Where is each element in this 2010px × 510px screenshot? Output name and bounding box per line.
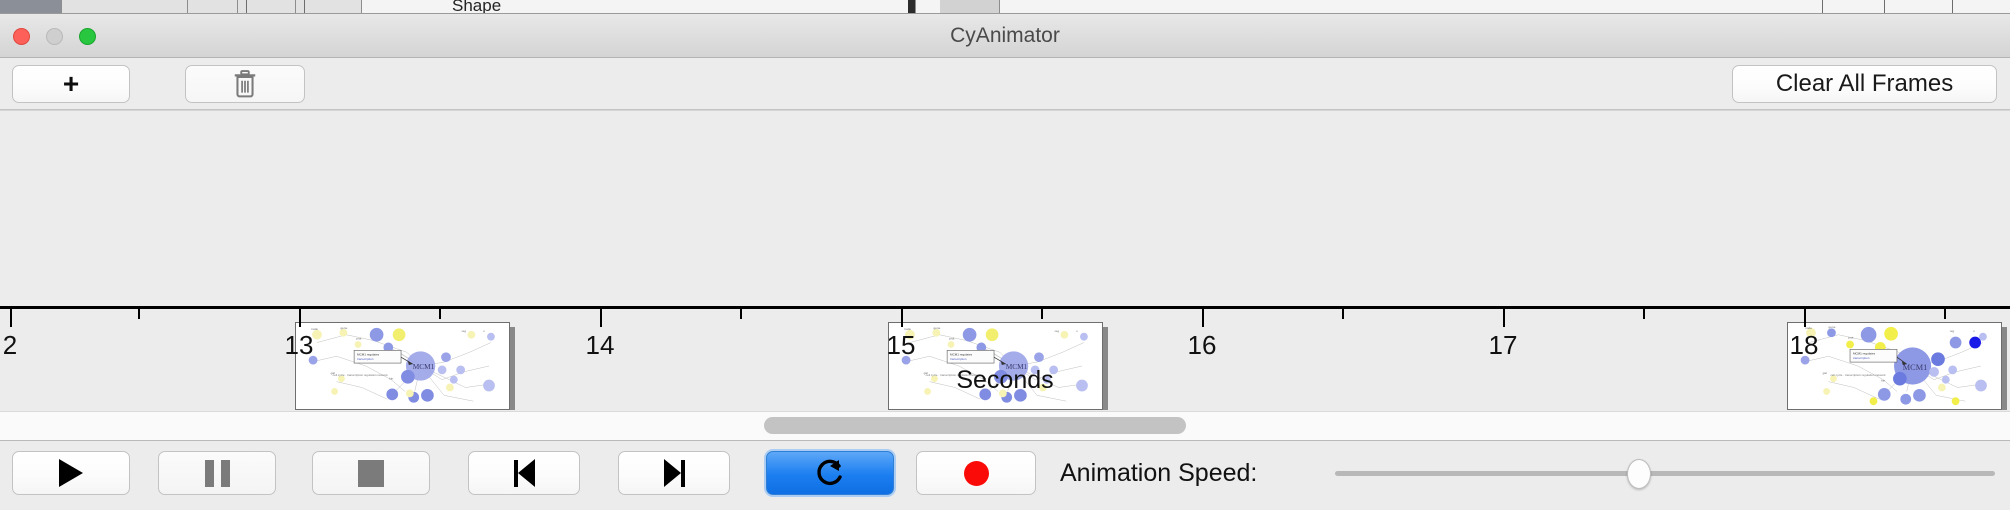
axis-tick-minor xyxy=(439,309,441,319)
slider-track xyxy=(1335,471,1995,476)
svg-text:MCM1 regulates: MCM1 regulates xyxy=(357,352,380,356)
play-icon xyxy=(59,459,83,487)
record-dot-icon xyxy=(964,461,989,486)
axis-tick-minor xyxy=(1643,309,1645,319)
axis-tick-label: 17 xyxy=(1489,330,1518,361)
background-window-strip: Shape xyxy=(0,0,2010,14)
bg-tick xyxy=(1952,0,1953,14)
bg-chip xyxy=(62,0,188,14)
stop-button[interactable] xyxy=(312,451,430,495)
bg-chip xyxy=(0,0,62,14)
background-window-label: Shape xyxy=(452,0,501,14)
playback-toolbar: Animation Speed: xyxy=(0,442,2010,510)
animation-speed-slider[interactable] xyxy=(1335,451,1995,495)
svg-text:gene: gene xyxy=(933,326,940,330)
bg-tick xyxy=(304,0,305,14)
delete-frame-button[interactable] xyxy=(185,65,305,103)
bg-tick xyxy=(246,0,247,14)
axis-tick-major xyxy=(1202,309,1204,327)
svg-text:transcription: transcription xyxy=(357,357,374,361)
animation-speed-label: Animation Speed: xyxy=(1060,451,1257,495)
play-button[interactable] xyxy=(12,451,130,495)
loop-icon xyxy=(814,457,846,489)
axis-tick-major xyxy=(600,309,602,327)
record-button[interactable] xyxy=(916,451,1036,495)
axis-tick-major xyxy=(1503,309,1505,327)
bg-chip xyxy=(940,0,1000,14)
axis-tick-minor xyxy=(1944,309,1946,319)
axis-tick-minor xyxy=(138,309,140,319)
slider-thumb[interactable] xyxy=(1627,459,1651,489)
svg-text:transcription: transcription xyxy=(1853,356,1870,360)
timeline-panel[interactable]: nodegene prottf regx kingal MCM1 regulat… xyxy=(0,110,2010,410)
previous-frame-button[interactable] xyxy=(468,451,580,495)
pause-button[interactable] xyxy=(158,451,276,495)
svg-text:prot: prot xyxy=(356,337,361,341)
bg-chip xyxy=(188,0,238,14)
svg-text:reg: reg xyxy=(1950,329,1955,333)
add-frame-button[interactable]: + xyxy=(12,65,130,103)
svg-text:transcription: transcription xyxy=(950,357,967,361)
bg-chip xyxy=(296,0,362,14)
pause-icon xyxy=(205,460,230,487)
svg-text:x: x xyxy=(483,329,485,333)
svg-text:gene: gene xyxy=(1829,325,1836,329)
axis-tick-label: 15 xyxy=(887,330,916,361)
svg-text:MCM1 regulates: MCM1 regulates xyxy=(1853,351,1876,355)
axis-tick-major xyxy=(1804,309,1806,327)
bg-tick xyxy=(1822,0,1823,14)
scrollbar-thumb[interactable] xyxy=(764,417,1186,434)
axis-tick-major xyxy=(299,309,301,327)
axis-tick-label: 2 xyxy=(3,330,17,361)
svg-text:gene: gene xyxy=(340,326,347,330)
axis-tick-major xyxy=(901,309,903,327)
svg-text:reg: reg xyxy=(1055,329,1060,333)
skip-back-icon xyxy=(514,459,535,487)
axis-tick-label: 13 xyxy=(285,330,314,361)
bg-tick xyxy=(1884,0,1885,14)
timeline-scrollbar[interactable] xyxy=(0,411,2010,441)
clear-all-frames-button[interactable]: Clear All Frames xyxy=(1732,65,1997,103)
axis-tick-minor xyxy=(740,309,742,319)
axis-tick-major xyxy=(10,309,12,327)
stop-icon xyxy=(358,460,384,487)
skip-forward-icon xyxy=(664,459,685,487)
toolbar: + Clear All Frames xyxy=(0,58,2010,110)
next-frame-button[interactable] xyxy=(618,451,730,495)
loop-button[interactable] xyxy=(766,451,894,495)
axis-tick-label: 18 xyxy=(1790,330,1819,361)
svg-text:prot: prot xyxy=(1848,336,1853,340)
svg-text:x: x xyxy=(1076,329,1078,333)
cyanimator-window: Shape CyAnimator + Clear All Frames xyxy=(0,0,2010,510)
axis-tick-minor xyxy=(1342,309,1344,319)
svg-text:MCM1 regulates: MCM1 regulates xyxy=(950,352,973,356)
svg-text:prot: prot xyxy=(949,337,954,341)
axis-tick-minor xyxy=(1041,309,1043,319)
bg-chip xyxy=(908,0,916,14)
axis-tick-label: 14 xyxy=(586,330,615,361)
timeline-top-divider xyxy=(0,110,2010,111)
axis-tick-label: 16 xyxy=(1188,330,1217,361)
timeline-axis xyxy=(0,306,2010,309)
window-title: CyAnimator xyxy=(0,14,2010,58)
axis-title: Seconds xyxy=(0,366,2010,395)
clear-all-frames-label: Clear All Frames xyxy=(1776,70,1953,98)
plus-icon: + xyxy=(63,70,79,98)
trash-icon xyxy=(232,70,258,98)
svg-text:reg: reg xyxy=(462,329,467,333)
title-bar: CyAnimator xyxy=(0,14,2010,58)
svg-text:x: x xyxy=(1973,329,1975,333)
